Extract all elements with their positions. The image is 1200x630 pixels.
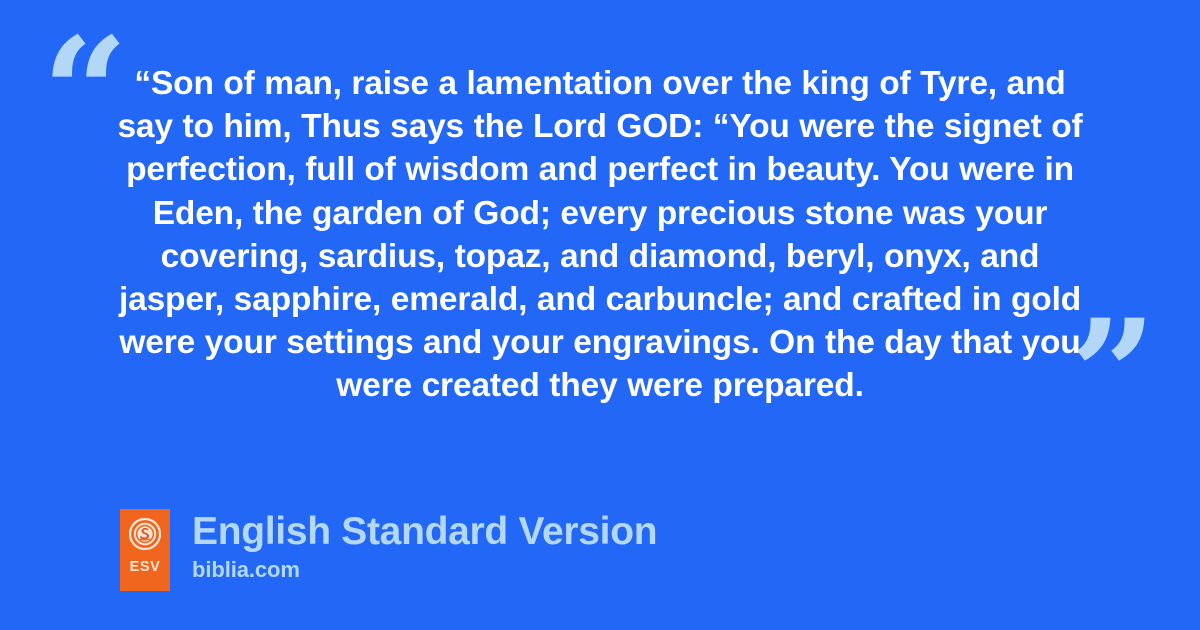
footer-attribution: ESV English Standard Version biblia.com: [120, 509, 657, 591]
esv-seal-icon: [129, 518, 161, 550]
footer-text-group: English Standard Version biblia.com: [192, 509, 657, 583]
esv-logo-label: ESV: [130, 560, 161, 575]
bible-version-name: English Standard Version: [192, 509, 657, 555]
esv-logo-badge: ESV: [120, 509, 170, 591]
quote-card: “ ” “Son of man, raise a lamentation ove…: [0, 0, 1200, 630]
quote-text: “Son of man, raise a lamentation over th…: [108, 62, 1092, 408]
site-url: biblia.com: [192, 557, 657, 583]
